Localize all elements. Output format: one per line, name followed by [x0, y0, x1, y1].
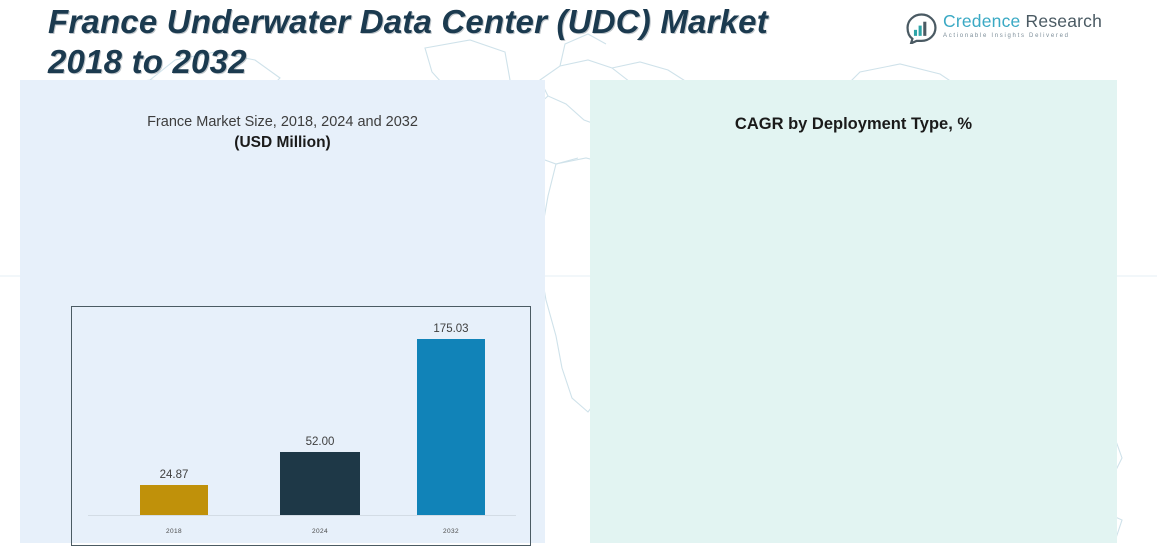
right-chart-title: CAGR by Deployment Type, % — [610, 113, 1097, 135]
logo-tagline: Actionable Insights Delivered — [943, 32, 1095, 41]
left-chart-title: France Market Size, 2018, 2024 and 2032 … — [40, 112, 525, 154]
left-chart-panel: France Market Size, 2018, 2024 and 2032 … — [20, 80, 545, 543]
x-axis-line — [88, 515, 516, 516]
infographic-canvas: France Underwater Data Center (UDC) Mark… — [0, 0, 1157, 552]
bar-2032[interactable]: 175.03 — [417, 339, 485, 515]
bar-2024-fill — [280, 452, 360, 515]
page-title: France Underwater Data Center (UDC) Mark… — [48, 2, 908, 82]
logo-name-part1: Credence — [943, 11, 1020, 31]
bar-2024-value-label: 52.00 — [306, 436, 335, 448]
bar-chart-bubble-logo-icon — [906, 13, 937, 44]
logo-wordmark: Credence Research Actionable Insights De… — [943, 11, 1095, 41]
bar-2018-value-label: 24.87 — [160, 469, 189, 481]
left-chart-title-line2: (USD Million) — [40, 132, 525, 154]
market-size-bar-chart: 24.87 2018 52.00 2024 175.03 2032 — [71, 306, 531, 546]
x-tick-2018: 2018 — [140, 528, 208, 535]
x-tick-2032: 2032 — [417, 528, 485, 535]
left-chart-title-line1: France Market Size, 2018, 2024 and 2032 — [40, 112, 525, 132]
bar-2018-fill — [140, 485, 208, 515]
right-chart-panel: CAGR by Deployment Type, % 12.7% 13.2% P… — [590, 80, 1117, 543]
logo-name-part2: Research — [1026, 11, 1103, 31]
bar-2032-fill — [417, 339, 485, 515]
bar-2024[interactable]: 52.00 — [280, 452, 360, 515]
bar-2018[interactable]: 24.87 — [140, 485, 208, 515]
header: France Underwater Data Center (UDC) Mark… — [0, 0, 1157, 82]
bar-2032-value-label: 175.03 — [433, 323, 468, 335]
brand-logo[interactable]: Credence Research Actionable Insights De… — [906, 11, 1096, 53]
x-tick-2024: 2024 — [280, 528, 360, 535]
logo-name: Credence Research — [943, 11, 1095, 32]
